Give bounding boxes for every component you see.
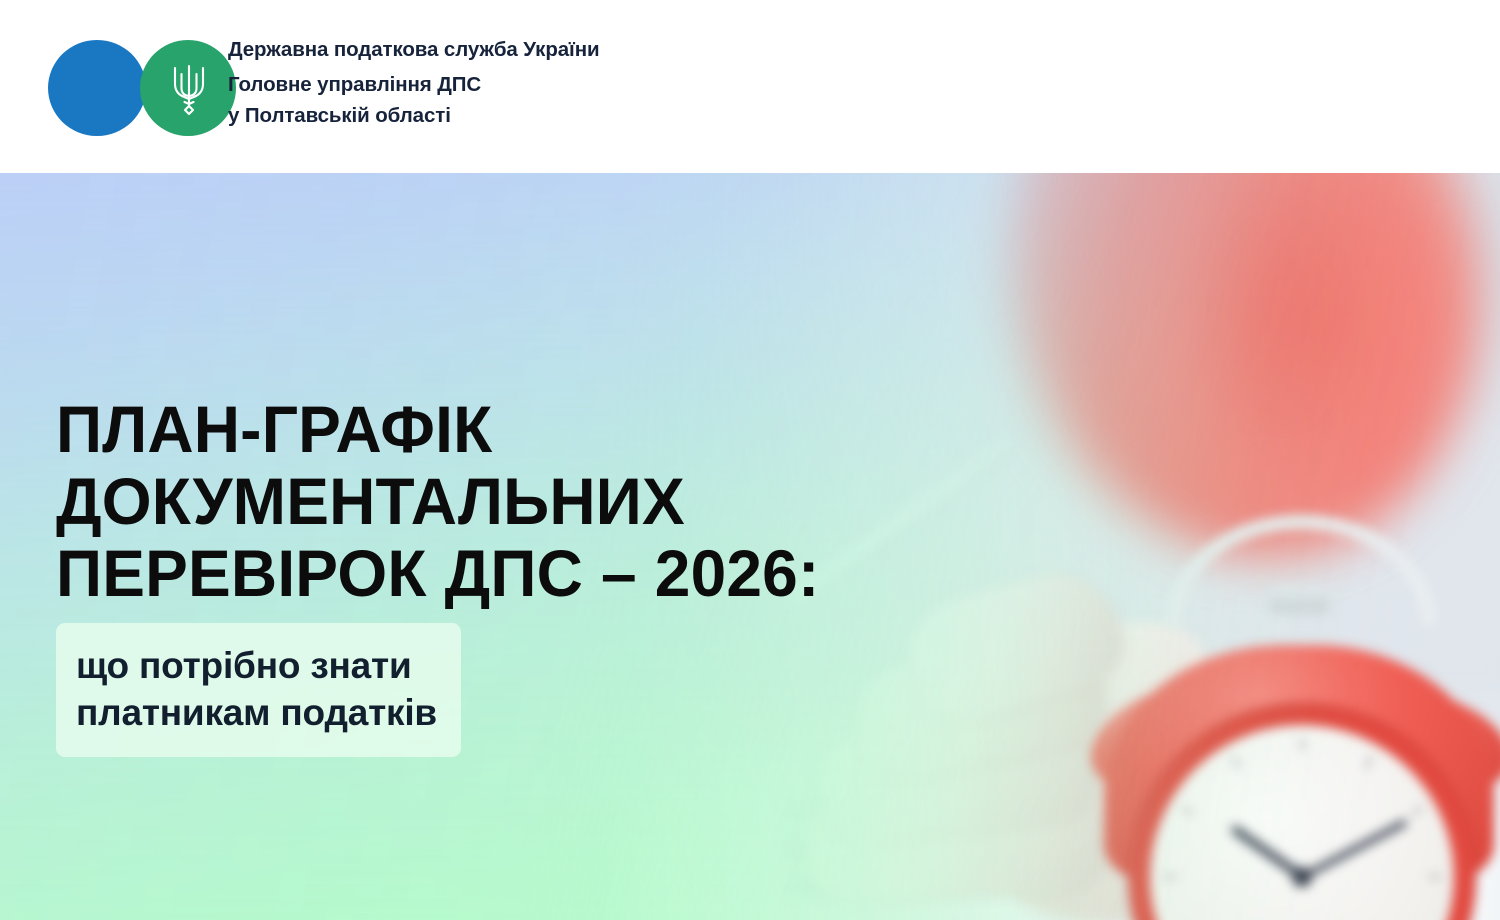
org-name-block: Державна податкова служба України Головн… <box>228 40 600 127</box>
subtitle-box: що потрібно знати платникам податків <box>56 623 461 757</box>
org-title-line-2: Головне управління ДПС <box>228 75 600 96</box>
page-title-line-2: ДОКУМЕНТАЛЬНИХ <box>56 465 851 537</box>
logo-blue-ellipse <box>48 40 146 136</box>
trident-icon <box>168 62 210 116</box>
page-subtitle: що потрібно знати платникам податків <box>76 642 437 736</box>
org-title-line-3: у Полтавській області <box>228 106 600 127</box>
page-title: ПЛАН-ГРАФІК ДОКУМЕНТАЛЬНИХ ПЕРЕВІРОК ДПС… <box>56 393 851 609</box>
page-title-line-1: ПЛАН-ГРАФІК <box>56 393 851 465</box>
dps-logo[interactable] <box>48 40 208 136</box>
hero-banner: ПЛАН-ГРАФІК ДОКУМЕНТАЛЬНИХ ПЕРЕВІРОК ДПС… <box>0 173 1500 920</box>
page-subtitle-line-2: платникам податків <box>76 689 437 736</box>
poster: Державна податкова служба України Головн… <box>0 0 1500 920</box>
site-header: Державна податкова служба України Головн… <box>0 0 1500 173</box>
org-title-line-1: Державна податкова служба України <box>228 40 600 61</box>
page-title-line-3: ПЕРЕВІРОК ДПС – 2026: <box>56 537 851 609</box>
page-subtitle-line-1: що потрібно знати <box>76 642 437 689</box>
hero-copy: ПЛАН-ГРАФІК ДОКУМЕНТАЛЬНИХ ПЕРЕВІРОК ДПС… <box>56 393 876 757</box>
